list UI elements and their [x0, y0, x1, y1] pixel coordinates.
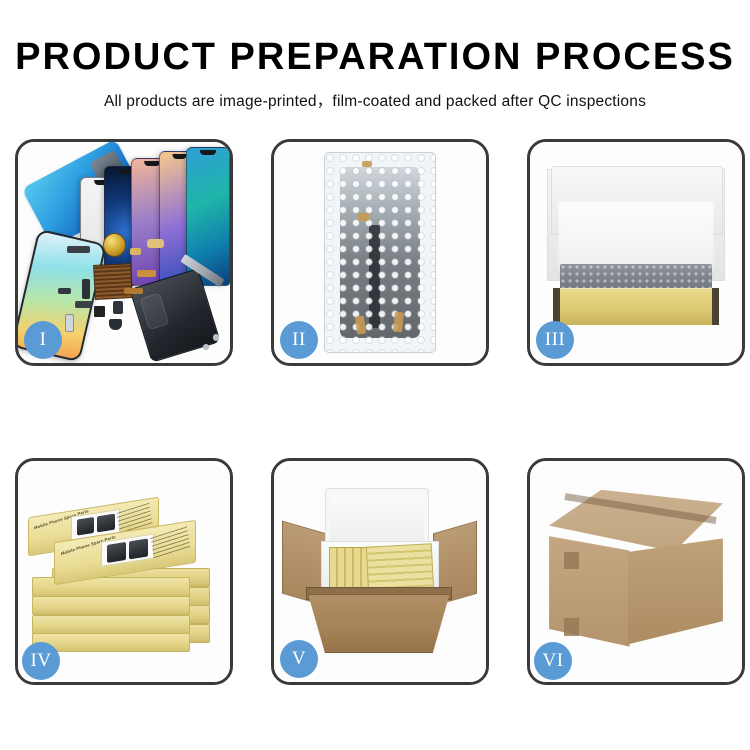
spare-part — [67, 246, 90, 253]
notch-icon — [144, 161, 159, 166]
box-corner-right — [712, 288, 718, 326]
notch-icon — [172, 154, 187, 159]
spare-part — [109, 319, 122, 330]
spare-part — [65, 314, 75, 331]
carton-tape-mark — [564, 552, 579, 570]
process-step-3[interactable]: III — [527, 139, 745, 366]
tape-piece — [355, 316, 366, 335]
page-subtitle: All products are image-printed，film-coat… — [0, 89, 750, 111]
box-corner-left — [553, 288, 559, 326]
page-title: PRODUCT PREPARATION PROCESS — [0, 38, 750, 78]
stacked-box — [32, 615, 190, 634]
box-spec-text-lines — [150, 526, 190, 559]
spare-part — [58, 288, 71, 294]
step-badge-2: II — [280, 321, 318, 359]
stacked-box — [32, 596, 190, 615]
carton-tape-mark — [564, 618, 579, 636]
process-step-5[interactable]: V — [271, 458, 489, 685]
bubble-wrap-bag — [325, 153, 435, 352]
spare-part — [124, 288, 143, 294]
kraft-box-front — [553, 288, 718, 326]
spare-part — [113, 301, 123, 314]
gold-coil-part-icon — [103, 233, 126, 257]
screw-icon — [203, 344, 209, 350]
white-foam-sheet — [558, 202, 715, 273]
phone-photo-icon — [77, 516, 95, 535]
spare-part — [82, 279, 90, 299]
notch-icon — [200, 150, 216, 155]
spare-part — [130, 248, 141, 255]
step-badge-5: V — [280, 640, 318, 678]
box-stack: Mobile Phone Spare Parts Mobile Phone Sp… — [26, 481, 221, 667]
bubble-texture — [325, 153, 435, 352]
spare-part — [75, 301, 92, 308]
process-step-grid: I II III — [15, 139, 735, 679]
spare-part — [147, 239, 164, 248]
page-header: PRODUCT PREPARATION PROCESS All products… — [0, 0, 750, 111]
process-step-1[interactable]: I — [15, 139, 233, 366]
tape-piece — [362, 161, 372, 167]
carton-side-face — [628, 538, 723, 644]
spare-part — [137, 270, 156, 277]
spare-part — [94, 306, 105, 317]
step-badge-4: IV — [22, 642, 60, 680]
process-step-4[interactable]: Mobile Phone Spare Parts Mobile Phone Sp… — [15, 458, 233, 685]
step-badge-6: VI — [534, 642, 572, 680]
tape-piece — [358, 213, 369, 221]
phone-photo-icon — [129, 538, 148, 559]
process-step-2[interactable]: II — [271, 139, 489, 366]
carton-front-face — [549, 536, 630, 647]
phone-photo-icon — [107, 541, 126, 562]
chip-array-part-icon — [93, 263, 133, 300]
step-badge-1: I — [24, 321, 62, 359]
phone-photo-icon — [97, 513, 115, 532]
carton-front — [308, 594, 450, 653]
step-badge-3: III — [536, 321, 574, 359]
process-step-6[interactable]: VI — [527, 458, 745, 685]
